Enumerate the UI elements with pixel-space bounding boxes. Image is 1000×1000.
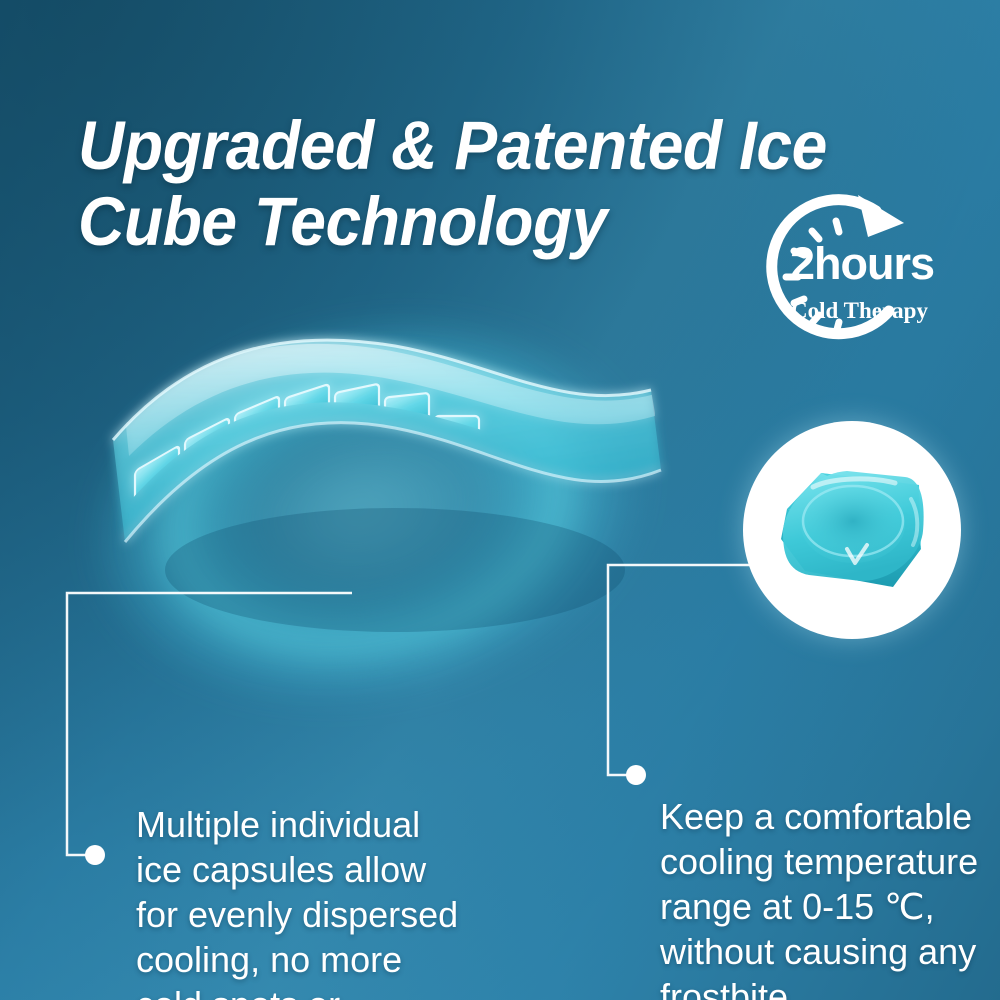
- infographic-canvas: Upgraded & Patented Ice Cube Technology …: [0, 0, 1000, 1000]
- badge-duration: 2hours: [790, 241, 960, 287]
- title-line-1: Upgraded & Patented Ice: [78, 108, 896, 184]
- gel-ice-cube-icon: [743, 421, 961, 639]
- badge-subtitle: Cold Therapy: [791, 299, 966, 323]
- cold-therapy-badge: 2hours Cold Therapy: [726, 193, 961, 358]
- feature-caption-right: Keep a comfortable cooling temperature r…: [660, 794, 980, 1000]
- gel-cube-inset: [743, 421, 961, 639]
- feature-caption-left: Multiple individual ice capsules allow f…: [136, 802, 476, 1000]
- leader-dot-right: [626, 765, 646, 785]
- product-image: [95, 320, 675, 680]
- leader-dot-left: [85, 845, 105, 865]
